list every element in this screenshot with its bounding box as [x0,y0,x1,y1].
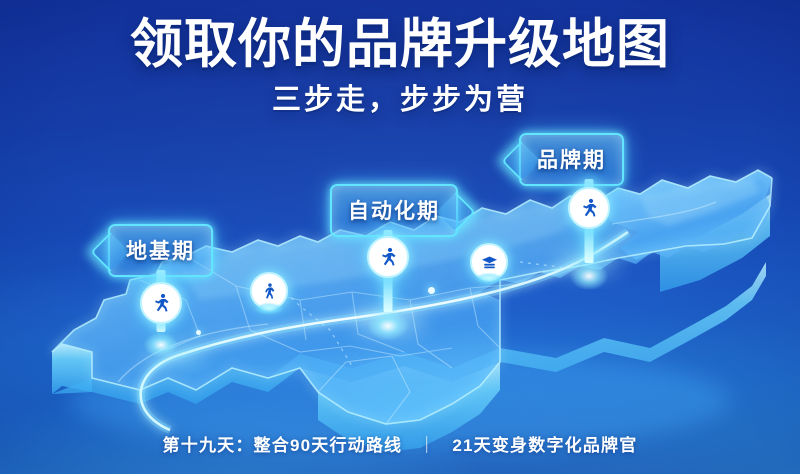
signpost-base-glow-2 [360,306,416,346]
footer-caption: 第十九天：整合90天行动路线 ｜ 21天变身数字化品牌官 [0,431,800,456]
map-node-base-2 [472,272,506,285]
footer-left-text: 第十九天：整合90天行动路线 [163,436,403,455]
sign-board-stage-3[interactable]: 品牌期 [519,133,624,186]
sign-board-stage-2[interactable]: 自动化期 [330,184,458,237]
sign-label-stage-2: 自动化期 [348,200,440,223]
poster-canvas: 领取你的品牌升级地图 三步走，步步为营 地基期 自动化期 [0,0,800,474]
signpost-stage-1[interactable]: 地基期 [108,224,213,277]
sign-label-stage-3: 品牌期 [537,149,606,172]
runner-icon-1 [140,282,182,324]
page-title: 领取你的品牌升级地图 [0,16,800,73]
runner-icon-3 [568,187,610,229]
map-node-walking[interactable] [252,272,286,318]
signpost-base-glow-1 [138,328,184,362]
footer-right-text: 21天变身数字化品牌官 [452,436,637,455]
map-node-education[interactable] [472,243,506,287]
runner-icon-2 [367,236,409,278]
signpost-stage-2[interactable]: 自动化期 [330,184,458,237]
map-node-base-1 [252,302,286,315]
footer-separator: ｜ [408,431,446,456]
signpost-base-glow-3 [563,257,615,295]
page-subtitle: 三步走，步步为营 [0,85,800,117]
route-dot-1 [428,287,435,294]
route-dot-2 [196,330,201,335]
sign-label-stage-1: 地基期 [126,240,195,263]
signpost-stage-3[interactable]: 品牌期 [519,133,624,186]
header-block: 领取你的品牌升级地图 三步走，步步为营 [0,16,800,117]
